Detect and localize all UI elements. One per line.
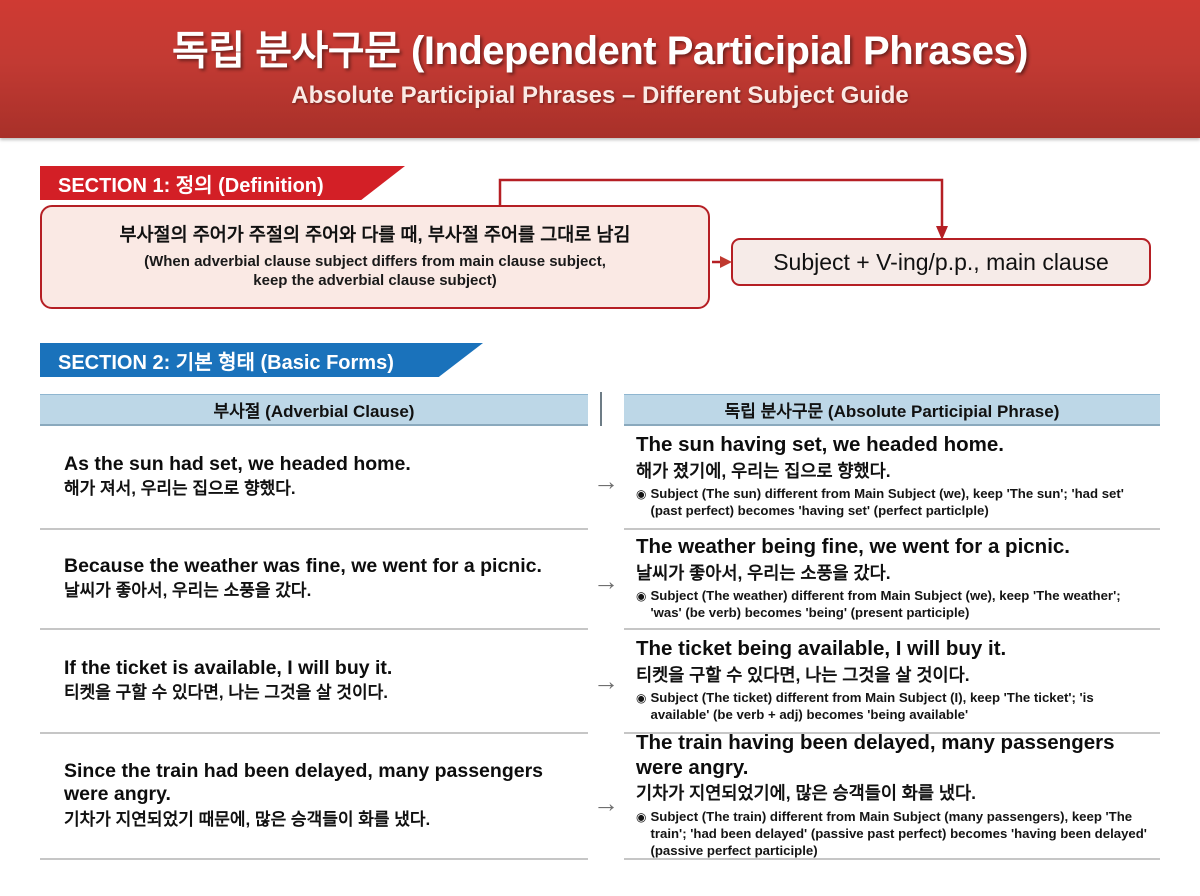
definition-english-line-1: (When adverbial clause subject differs f… xyxy=(144,252,606,272)
row-transform-arrow-icon: → xyxy=(590,468,622,494)
table-row: The sun having set, we headed home. 해가 졌… xyxy=(624,426,1160,530)
column-header-adverbial-clause: 부사절 (Adverbial Clause) xyxy=(40,394,588,426)
bullet-icon: ◉ xyxy=(636,588,646,604)
section-1-tag: SECTION 1: 정의 (Definition) xyxy=(40,166,405,200)
formula-text: Subject + V-ing/p.p., main clause xyxy=(773,249,1109,276)
table-row: The weather being fine, we went for a pi… xyxy=(624,530,1160,630)
page-title: 독립 분사구문 (Independent Participial Phrases… xyxy=(172,28,1028,74)
table-row: The train having been delayed, many pass… xyxy=(624,734,1160,860)
row-english: If the ticket is available, I will buy i… xyxy=(64,657,578,680)
row-korean: 날씨가 좋아서, 우리는 소풍을 갔다. xyxy=(636,562,1154,585)
row-transform-arrow-icon: → xyxy=(590,668,622,694)
row-english: The sun having set, we headed home. xyxy=(636,433,1154,458)
table-row: Since the train had been delayed, many p… xyxy=(40,734,588,860)
table-row: If the ticket is available, I will buy i… xyxy=(40,630,588,734)
row-transform-arrow-icon: → xyxy=(590,790,622,816)
bullet-icon: ◉ xyxy=(636,809,646,825)
row-note-text: Subject (The ticket) different from Main… xyxy=(650,690,1154,724)
row-korean: 기차가 지연되었기에, 많은 승객들이 화를 냈다. xyxy=(636,782,1154,805)
bullet-icon: ◉ xyxy=(636,690,646,706)
row-korean: 날씨가 좋아서, 우리는 소풍을 갔다. xyxy=(64,580,578,602)
definition-box: 부사절의 주어가 주절의 주어와 다를 때, 부사절 주어를 그대로 남김 (W… xyxy=(40,205,710,309)
row-korean: 기차가 지연되었기 때문에, 많은 승객들이 화를 냈다. xyxy=(64,809,578,831)
row-korean: 해가 졌기에, 우리는 집으로 향했다. xyxy=(636,460,1154,483)
row-note: ◉ Subject (The weather) different from M… xyxy=(636,588,1154,622)
row-note-text: Subject (The train) different from Main … xyxy=(650,809,1154,860)
row-note: ◉ Subject (The ticket) different from Ma… xyxy=(636,690,1154,724)
column-header-participial-phrase: 독립 분사구문 (Absolute Participial Phrase) xyxy=(624,394,1160,426)
row-korean: 해가 져서, 우리는 집으로 향했다. xyxy=(64,478,578,500)
definition-english: (When adverbial clause subject differs f… xyxy=(144,252,606,291)
row-note-text: Subject (The weather) different from Mai… xyxy=(650,588,1154,622)
page-subtitle: Absolute Participial Phrases – Different… xyxy=(291,82,909,110)
row-english: Because the weather was fine, we went fo… xyxy=(64,555,578,578)
row-korean: 티켓을 구할 수 있다면, 나는 그것을 살 것이다. xyxy=(636,664,1154,687)
section-2-tag: SECTION 2: 기본 형태 (Basic Forms) xyxy=(40,343,483,377)
row-english: The train having been delayed, many pass… xyxy=(636,731,1154,780)
row-korean: 티켓을 구할 수 있다면, 나는 그것을 살 것이다. xyxy=(64,682,578,704)
column-header-divider xyxy=(600,392,602,426)
table-row: Because the weather was fine, we went fo… xyxy=(40,530,588,630)
definition-korean: 부사절의 주어가 주절의 주어와 다를 때, 부사절 주어를 그대로 남김 xyxy=(120,223,631,246)
page-banner: 독립 분사구문 (Independent Participial Phrases… xyxy=(0,0,1200,138)
row-english: The ticket being available, I will buy i… xyxy=(636,637,1154,662)
bullet-icon: ◉ xyxy=(636,486,646,502)
right-column: The sun having set, we headed home. 해가 졌… xyxy=(624,426,1160,860)
definition-english-line-2: keep the adverbial clause subject) xyxy=(144,271,606,291)
table-row: The ticket being available, I will buy i… xyxy=(624,630,1160,734)
row-english: The weather being fine, we went for a pi… xyxy=(636,535,1154,560)
left-column: As the sun had set, we headed home. 해가 져… xyxy=(40,426,588,860)
row-english: As the sun had set, we headed home. xyxy=(64,453,578,476)
row-note: ◉ Subject (The train) different from Mai… xyxy=(636,809,1154,860)
row-note-text: Subject (The sun) different from Main Su… xyxy=(650,486,1154,520)
row-note: ◉ Subject (The sun) different from Main … xyxy=(636,486,1154,520)
row-english: Since the train had been delayed, many p… xyxy=(64,760,578,807)
row-transform-arrow-icon: → xyxy=(590,568,622,594)
formula-box: Subject + V-ing/p.p., main clause xyxy=(731,238,1151,286)
table-row: As the sun had set, we headed home. 해가 져… xyxy=(40,426,588,530)
